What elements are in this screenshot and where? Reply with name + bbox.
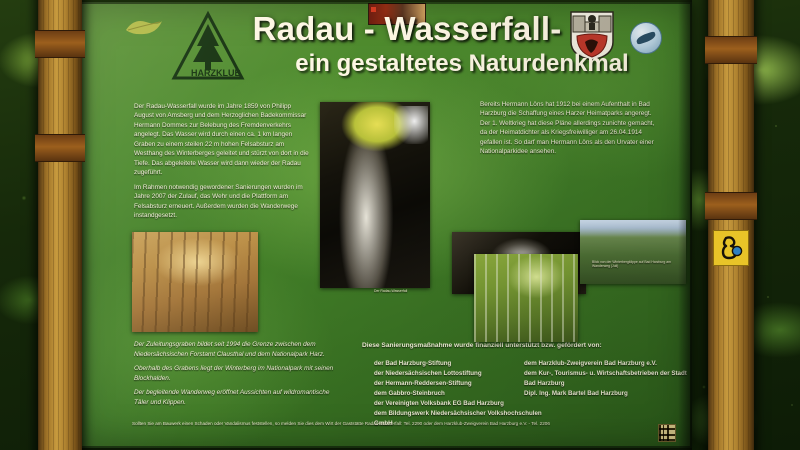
page-title: Radau - Wasserfall- <box>242 12 572 45</box>
board-header: HARZ KLUB Radau - Wasserfall- ein ges <box>72 2 692 94</box>
sponsor-item: der Niedersächsischen Lottostiftung <box>374 369 544 379</box>
photo-waterfall-main <box>320 102 430 288</box>
photo-scene: HARZ KLUB Radau - Wasserfall- ein ges <box>0 0 800 450</box>
sponsor-item: dem Harzklub-Zweigverein Bad Harzburg e.… <box>524 359 692 369</box>
wooden-post-right <box>708 0 754 450</box>
text-block-loens: Bereits Hermann Löns hat 1912 bei einem … <box>480 100 660 162</box>
photo-aerial-view <box>580 220 686 284</box>
wanderweg-marker-icon <box>717 234 745 262</box>
harzklub-logo-icon: HARZ KLUB <box>170 10 246 84</box>
sponsors-left-column: der Bad Harzburg-Stiftung der Niedersäch… <box>374 359 544 429</box>
sponsor-item: der Bad Harzburg-Stiftung <box>374 359 544 369</box>
qr-code-icon <box>658 424 676 442</box>
svg-text:HARZ: HARZ <box>191 68 216 78</box>
text-block-history: Der Radau-Wasserfall wurde im Jahre 1859… <box>134 102 312 226</box>
sponsor-item: dem Kur-, Tourismus- u. Wirtschaftsbetri… <box>524 369 692 389</box>
sponsor-item: Dipl. Ing. Mark Bartel Bad Harzburg <box>524 389 692 399</box>
photo-caption: Der Radau-Wasserfall <box>374 289 444 293</box>
text-block-nationalpark: Der Zuleitungsgraben bildet seit 1994 di… <box>134 340 334 413</box>
sponsors-heading: Diese Sanierungsmaßnahme wurde finanziel… <box>362 342 692 349</box>
information-board: HARZ KLUB Radau - Wasserfall- ein ges <box>72 2 692 448</box>
trail-marker-sign <box>713 230 749 266</box>
photo-beech-forest <box>474 254 578 342</box>
photo-autumn-forest-path <box>132 232 258 332</box>
leaf-decoration-icon <box>124 16 164 38</box>
sponsor-item: dem Gabbro-Steinbruch <box>374 389 544 399</box>
footer-damage-note: Sollten Sie am Bauwerk einen Schaden ode… <box>132 421 672 427</box>
svg-text:KLUB: KLUB <box>216 68 241 78</box>
photo-caption: Blick von der Winterbergklippe auf Bad H… <box>592 260 678 269</box>
nationalpark-emblem-icon <box>630 22 662 54</box>
page-subtitle: ein gestaltetes Naturdenkmal <box>262 52 662 76</box>
sponsor-item: der Hermann-Reddersen-Stiftung <box>374 379 544 389</box>
wooden-post-left <box>38 0 82 450</box>
sponsors-right-column: dem Harzklub-Zweigverein Bad Harzburg e.… <box>524 359 692 399</box>
sponsor-item: der Vereinigten Volksbank EG Bad Harzbur… <box>374 399 544 409</box>
